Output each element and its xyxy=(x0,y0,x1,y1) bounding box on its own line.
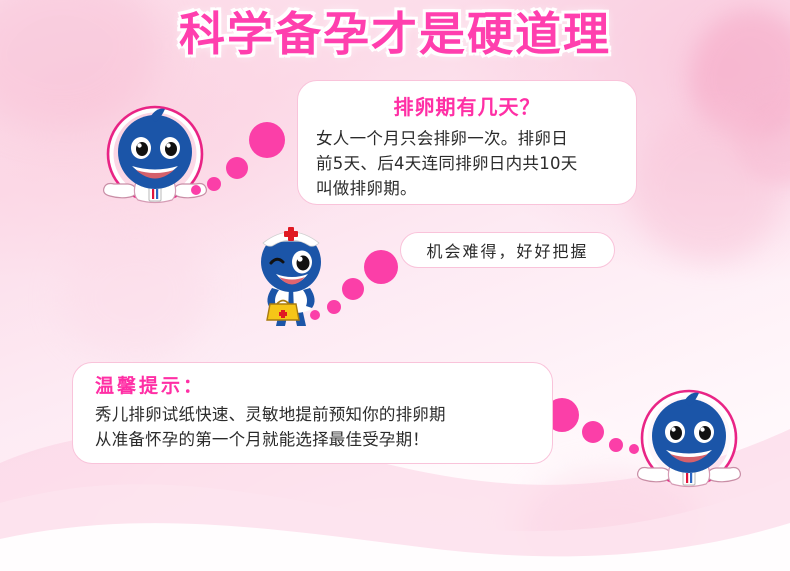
speech-trail-dot xyxy=(364,250,398,284)
blueberry-waving-right-mascot xyxy=(630,388,748,490)
ovulation-info-heading: 排卵期有几天？ xyxy=(316,94,618,120)
encouragement-bubble: 机会难得，好好把握 xyxy=(400,232,615,268)
ovulation-info-line-2: 前5天、后4天连同排卵日内共10天 xyxy=(316,151,618,176)
ovulation-info-line-1: 女人一个月只会排卵一次。排卵日 xyxy=(316,126,618,151)
warm-tip-line-2: 从准备怀孕的第一个月就能选择最佳受孕期！ xyxy=(95,427,532,452)
ovulation-info-bubble: 排卵期有几天？ 女人一个月只会排卵一次。排卵日 前5天、后4天连同排卵日内共10… xyxy=(297,80,637,205)
petal-decoration xyxy=(630,112,780,262)
ovulation-info-line-3: 叫做排卵期。 xyxy=(316,176,618,201)
speech-trail-dot xyxy=(629,444,639,454)
speech-trail-dot xyxy=(609,438,623,452)
warm-tip-bubble: 温馨提示： 秀儿排卵试纸快速、灵敏地提前预知你的排卵期 从准备怀孕的第一个月就能… xyxy=(72,362,553,464)
speech-trail-dot xyxy=(191,185,201,195)
speech-trail-dot xyxy=(327,300,341,314)
speech-trail-dot xyxy=(226,157,248,179)
page-title: 科学备孕才是硬道理 xyxy=(0,6,790,62)
speech-trail-dot xyxy=(249,122,285,158)
speech-trail-dot xyxy=(342,278,364,300)
warm-tip-heading: 温馨提示： xyxy=(95,373,532,399)
poster-canvas: 科学备孕才是硬道理 xyxy=(0,0,790,571)
speech-trail-dot xyxy=(582,421,604,443)
warm-tip-line-1: 秀儿排卵试纸快速、灵敏地提前预知你的排卵期 xyxy=(95,402,532,427)
petal-decoration xyxy=(60,230,210,360)
speech-trail-dot xyxy=(310,310,320,320)
encouragement-text: 机会难得，好好把握 xyxy=(426,238,588,262)
speech-trail-dot xyxy=(207,177,221,191)
